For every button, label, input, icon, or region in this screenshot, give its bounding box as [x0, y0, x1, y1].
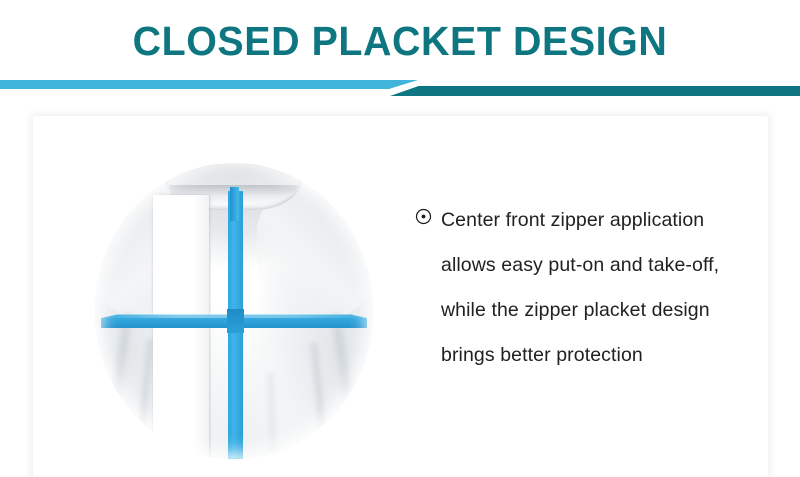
bullet-text: Center front zipper application allows e…	[441, 198, 745, 378]
page-title: CLOSED PLACKET DESIGN	[16, 18, 784, 64]
content-card: Center front zipper application allows e…	[33, 116, 768, 477]
divider-dark-bar	[390, 86, 800, 96]
section-divider	[0, 78, 800, 98]
description-column: Center front zipper application allows e…	[415, 198, 745, 378]
product-photo	[95, 163, 373, 459]
vertical-zipper-tape-top	[230, 187, 239, 221]
bullet-row: Center front zipper application allows e…	[415, 198, 745, 378]
divider-light-bar	[0, 80, 418, 89]
product-photo-circle	[95, 163, 373, 459]
tape-cross-junction	[227, 309, 244, 333]
coverall-shoulder-right	[257, 189, 373, 319]
card-inner: Center front zipper application allows e…	[33, 116, 768, 477]
circle-dot-icon	[415, 198, 441, 225]
page-root: CLOSED PLACKET DESIGN	[0, 0, 800, 477]
title-block: CLOSED PLACKET DESIGN	[0, 18, 800, 64]
